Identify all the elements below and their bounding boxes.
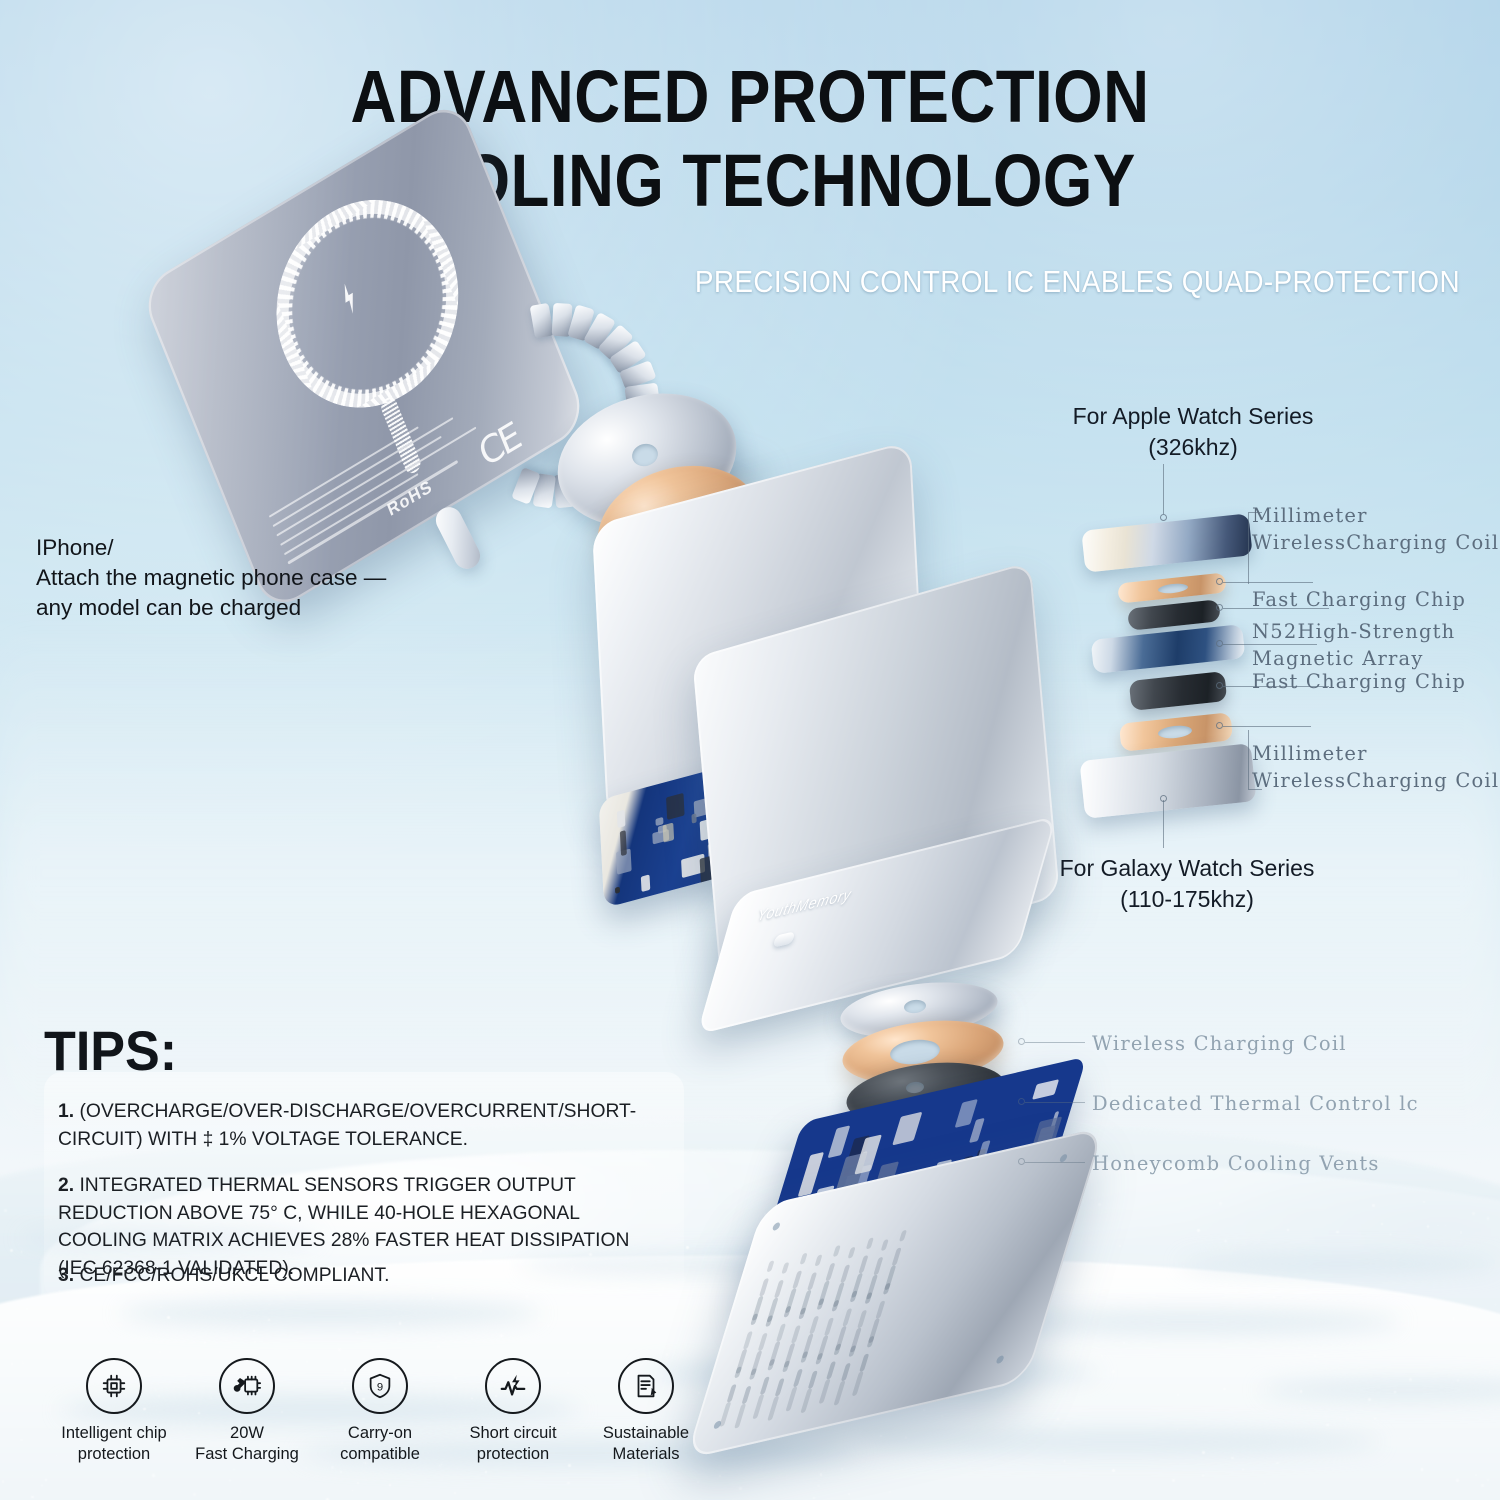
feature-icon-row: Intelligent chipprotection20WFast Chargi… [48,1358,708,1488]
iphone-callout: IPhone/ Attach the magnetic phone case —… [36,533,456,623]
callout-n52-magnetic-array: N52High-Strength Magnetic Array [1252,618,1455,672]
shield-nine-icon: 9 [352,1358,408,1414]
iphone-callout-line-2: Attach the magnetic phone case — [36,563,456,593]
tip-item-3: 3. CE/FCC/ROHS/UKCL COMPLIANT. [58,1262,670,1290]
feature-label-line-2: Materials [613,1445,680,1463]
wrench-chip-icon [219,1358,275,1414]
feature-shield-nine: 9Carry-oncompatible [314,1358,446,1465]
feature-label-line-1: Carry-on [348,1424,412,1442]
page-title-line-1: ADVANCED PROTECTION [105,56,1395,138]
tip-number-2: 2. [58,1175,74,1196]
tip-number-3: 3. [58,1265,74,1286]
tip-item-1: 1. (OVERCHARGE/OVER-DISCHARGE/OVERCURREN… [58,1098,670,1153]
iphone-callout-line-3: any model can be charged [36,593,456,623]
feature-document-pen: SustainableMaterials [580,1358,712,1465]
feature-waveform-bolt: Short circuitprotection [447,1358,579,1465]
waveform-bolt-icon [485,1358,541,1414]
feature-label-line-2: compatible [340,1445,420,1463]
callout-wireless-charging-coil: Wireless Charging Coil [1092,1030,1347,1057]
iphone-callout-line-1: IPhone/ [36,533,456,563]
svg-text:9: 9 [377,1382,383,1394]
callout-fast-charging-chip-1: Fast Charging Chip [1252,586,1466,613]
tip-text-3: CE/FCC/ROHS/UKCL COMPLIANT. [79,1265,389,1286]
feature-label-line-1: Intelligent chip [61,1424,167,1442]
feature-wrench-chip: 20WFast Charging [181,1358,313,1465]
apple-watch-heading: For Apple Watch Series (326khz) [1028,401,1358,463]
callout-honeycomb-cooling-vents: Honeycomb Cooling Vents [1092,1150,1380,1177]
tip-text-1: (OVERCHARGE/OVER-DISCHARGE/OVERCURRENT/S… [58,1101,636,1150]
feature-chip: Intelligent chipprotection [48,1358,180,1465]
document-pen-icon [618,1358,674,1414]
galaxy-watch-heading: For Galaxy Watch Series (110-175khz) [1022,853,1352,915]
callout-dedicated-thermal-control-ic: Dedicated Thermal Control lc [1092,1090,1419,1117]
feature-label-line-1: Sustainable [603,1424,689,1442]
galaxy-watch-heading-line-2: (110-175khz) [1022,884,1352,915]
feature-label-line-1: 20W [230,1424,264,1442]
apple-watch-heading-line-2: (326khz) [1028,432,1358,463]
callout-millimeter-coil-bottom: Millimeter WirelessCharging Coil [1252,740,1499,794]
chip-icon [86,1358,142,1414]
feature-label-line-1: Short circuit [469,1424,556,1442]
tips-title: TIPS: [44,1018,177,1083]
callout-fast-charging-chip-2: Fast Charging Chip [1252,668,1466,695]
feature-label-line-2: protection [78,1445,150,1463]
infographic-canvas: ADVANCED PROTECTION COOLING TECHNOLOGY P… [0,0,1500,1500]
galaxy-watch-heading-line-1: For Galaxy Watch Series [1022,853,1352,884]
callout-millimeter-coil-top: Millimeter WirelessCharging Coil [1252,502,1499,556]
feature-label-line-2: Fast Charging [195,1445,299,1463]
feature-label-line-2: protection [477,1445,549,1463]
apple-watch-heading-line-1: For Apple Watch Series [1028,401,1358,432]
tip-number-1: 1. [58,1101,74,1122]
